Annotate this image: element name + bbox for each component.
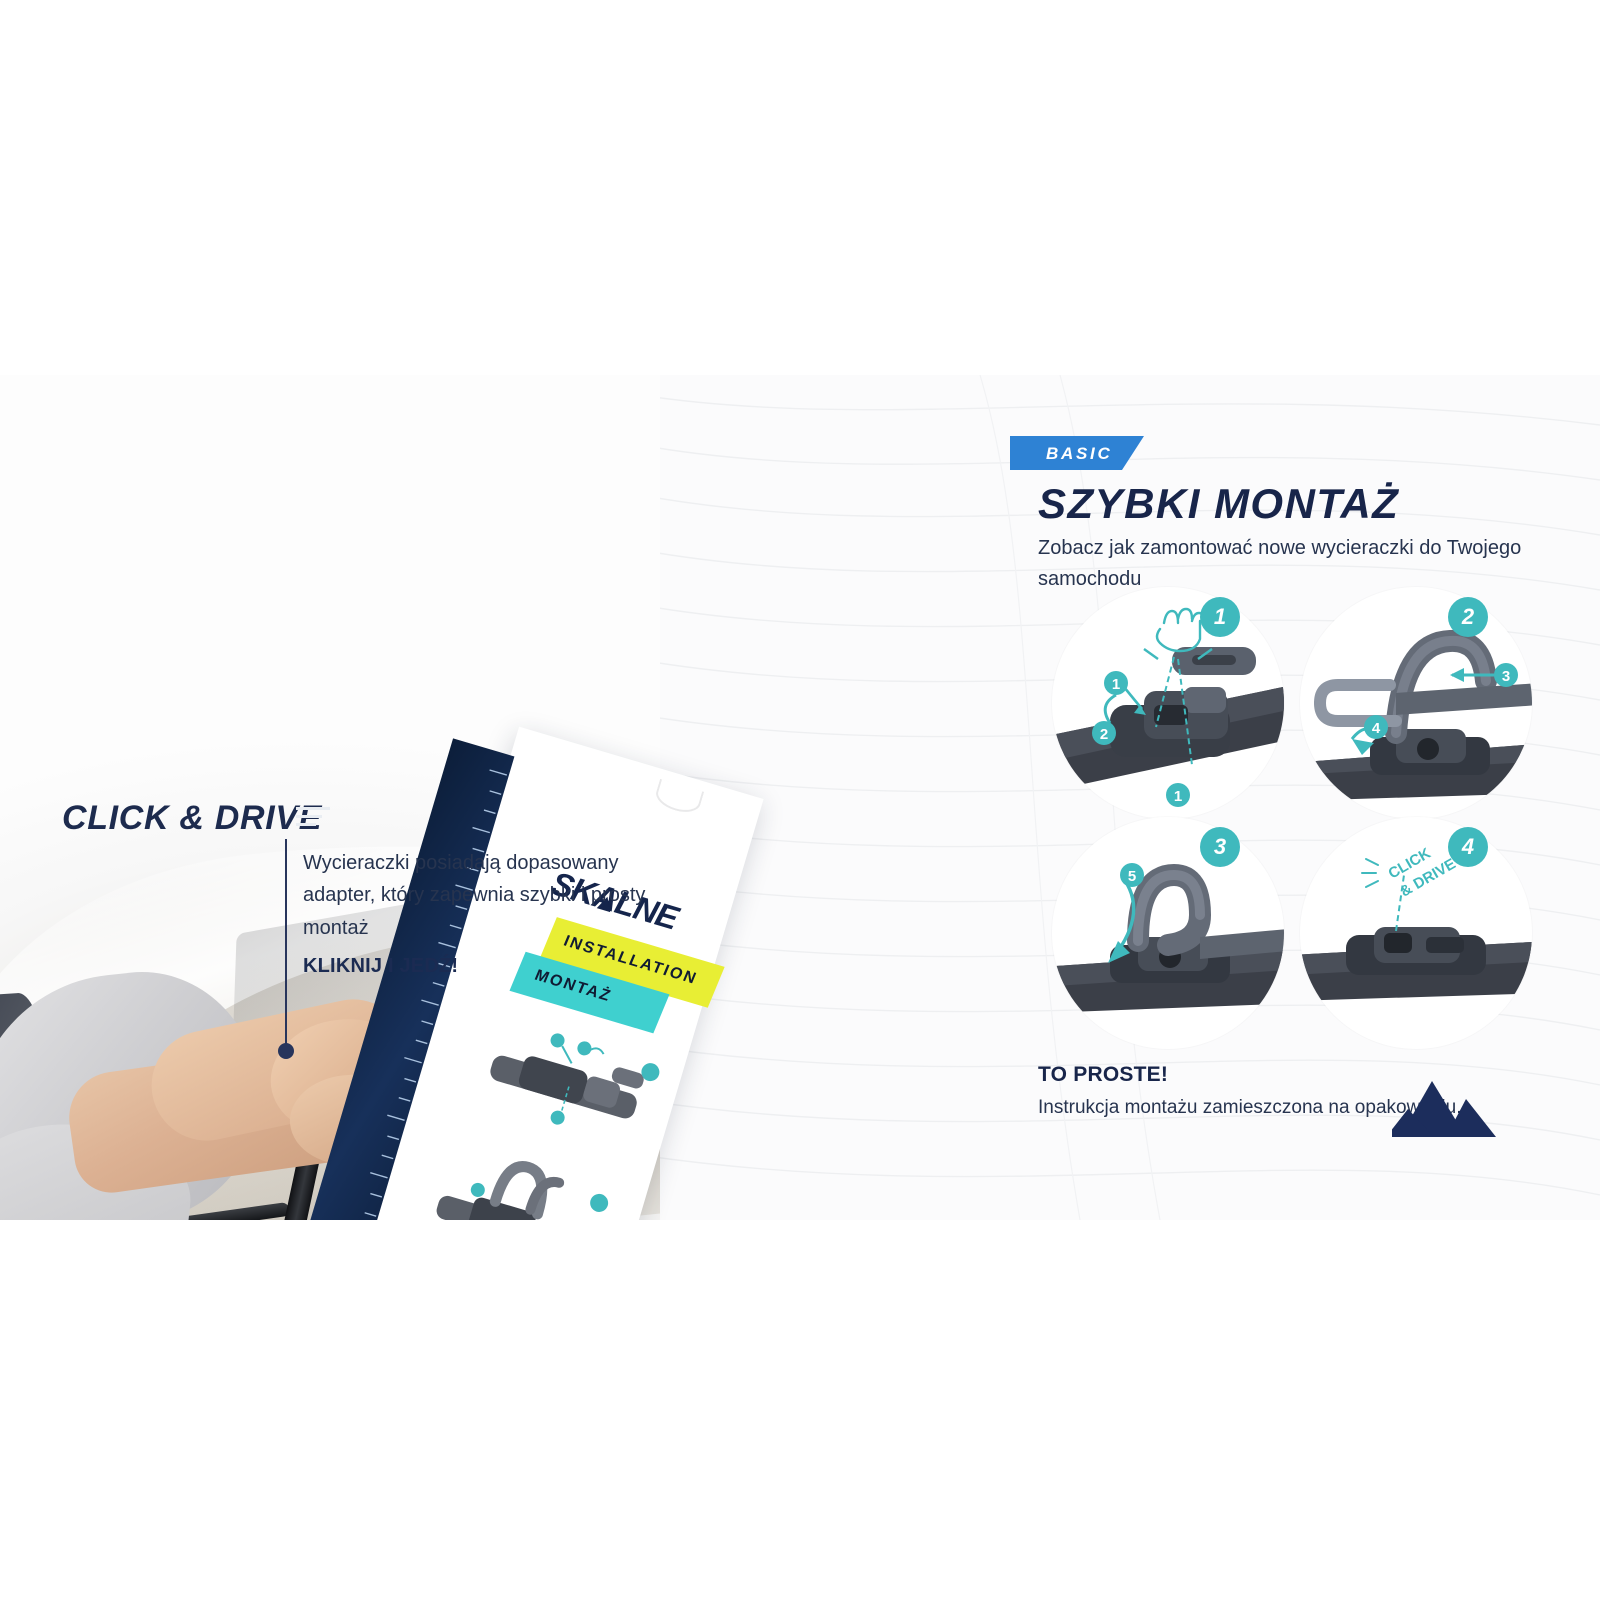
click-and-drive-title: CLICK & DRIVE (62, 799, 322, 838)
svg-text:2: 2 (1100, 726, 1108, 743)
mountain-icon (1392, 1079, 1496, 1141)
callout-cta-text: KLIKNIJ I JEDŹ! (303, 955, 458, 978)
step-circle-2: 3 4 (1300, 587, 1532, 819)
basic-badge: BASIC (1010, 436, 1122, 470)
svg-text:1: 1 (1174, 788, 1182, 805)
step-circle-1: 1 2 1 (1052, 587, 1284, 819)
svg-text:3: 3 (1502, 668, 1510, 685)
title-speed-lines-icon (296, 807, 330, 831)
callout-connector-line (285, 839, 287, 1047)
svg-text:5: 5 (1128, 868, 1136, 885)
hang-tab-icon (653, 779, 704, 817)
panel-subtitle: Zobacz jak zamontować nowe wycieraczki d… (1038, 533, 1600, 595)
callout-connector-dot (278, 1043, 294, 1059)
step-number-1: 1 (1200, 597, 1240, 637)
banner-stage: SKALNE INSTALLATION MONTAŻ (0, 0, 1600, 1600)
step-number-3: 3 (1200, 827, 1240, 867)
step-number-2: 2 (1448, 597, 1488, 637)
step-3-illustration: 5 (1052, 817, 1284, 1049)
basic-badge-label: BASIC (1046, 444, 1113, 464)
panel-title: SZYBKI MONTAŻ (1038, 480, 1399, 528)
step-1-illustration: 1 2 1 (1052, 587, 1284, 819)
step-2-illustration: 3 4 (1300, 587, 1532, 819)
svg-text:1: 1 (1112, 676, 1120, 693)
step-number-4: 4 (1448, 827, 1488, 867)
footer-title: TO PROSTE! (1038, 1063, 1168, 1087)
svg-text:4: 4 (1372, 720, 1381, 737)
step-circle-4: CLICK & DRIVE (1300, 817, 1532, 1049)
step-4-illustration: CLICK & DRIVE (1300, 817, 1532, 1049)
promo-banner: SKALNE INSTALLATION MONTAŻ (0, 375, 1600, 1220)
callout-body-text: Wycieraczki posiadają dopasowany adapter… (303, 847, 663, 944)
basic-badge-arrow (1122, 436, 1144, 470)
instructions-panel: BASIC SZYBKI MONTAŻ Zobacz jak zamontowa… (1000, 375, 1600, 1220)
step-circle-3: 5 (1052, 817, 1284, 1049)
